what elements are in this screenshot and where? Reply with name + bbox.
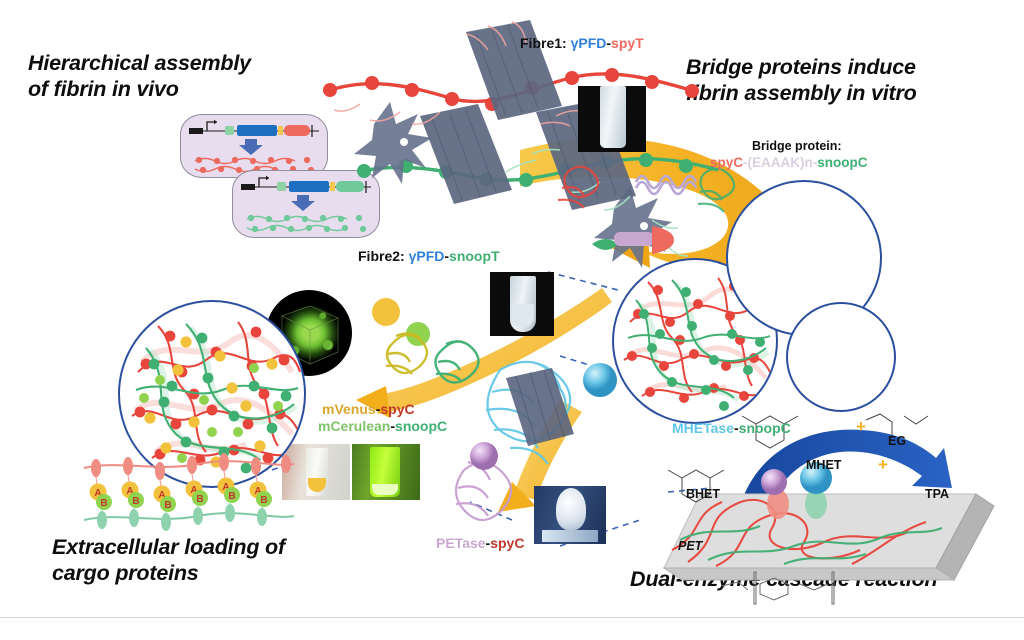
label-pet: PET xyxy=(678,539,702,553)
label-fibre1-part2: spyT xyxy=(611,35,644,51)
label-bridge-sequence: spyC-(EAAAK)n-snoopC xyxy=(710,155,868,170)
svg-text:B: B xyxy=(228,491,235,502)
label-fibre1-part1: γPFD xyxy=(571,35,607,51)
label-mhet: MHET xyxy=(806,458,841,472)
label-bridge-title: Bridge protein: xyxy=(752,139,842,153)
label-fibre2-part2: snoopT xyxy=(449,248,500,264)
sem-fibre-circle xyxy=(786,302,896,412)
label-fibre2-prefix: Fibre2: xyxy=(358,248,405,264)
svg-text:B: B xyxy=(164,500,171,511)
photo-cargo-vial-fluorescent xyxy=(352,444,420,500)
cargo-ladder-diagram: AA AA AA BB BB BB xyxy=(78,450,298,530)
label-petase-spyc: PETase-spyC xyxy=(436,535,524,551)
label-fibre2-part1: γPFD xyxy=(409,248,445,264)
label-mvenus-spyc: mVenus-spyC xyxy=(322,401,415,417)
label-fibre1: Fibre1: γPFD-spyT xyxy=(520,35,644,51)
label-mcerulean-snoopc: snoopC xyxy=(395,418,447,434)
label-tpa: TPA xyxy=(925,487,949,501)
label-mhetase: MHETase xyxy=(672,420,734,436)
label-petase: PETase xyxy=(436,535,486,551)
svg-text:B: B xyxy=(196,494,203,505)
label-fibre1-prefix: Fibre1: xyxy=(520,35,567,51)
label-mcerulean-snoopc: mCerulean-snoopC xyxy=(318,418,447,434)
svg-text:+: + xyxy=(856,417,866,436)
label-mvenus-spyc: spyC xyxy=(380,401,414,417)
label-bridge-part2: snoopC xyxy=(817,155,867,170)
svg-text:B: B xyxy=(132,496,139,507)
label-mhetase-snoopc: MHETase-snoopC xyxy=(672,420,791,436)
label-petase-spyc: spyC xyxy=(490,535,524,551)
label-mvenus: mVenus xyxy=(322,401,376,417)
svg-text:+: + xyxy=(878,455,888,474)
label-eg: EG xyxy=(888,434,906,448)
label-mcerulean: mCerulean xyxy=(318,418,390,434)
bottom-divider xyxy=(0,617,1024,618)
label-bhet: BHET xyxy=(686,487,720,501)
label-bridge-linker: -(EAAAK)n- xyxy=(743,155,817,170)
photo-vial-clear xyxy=(578,86,646,152)
label-mhetase-snoopc: snoopC xyxy=(739,420,791,436)
cargo-bead-b-label: B xyxy=(100,498,107,509)
svg-text:B: B xyxy=(260,495,267,506)
figure-canvas: Hierarchical assembly of fibrin in vivo … xyxy=(0,0,1024,640)
label-fibre2: Fibre2: γPFD-snoopT xyxy=(358,248,500,264)
label-bridge-part1: spyC xyxy=(710,155,743,170)
